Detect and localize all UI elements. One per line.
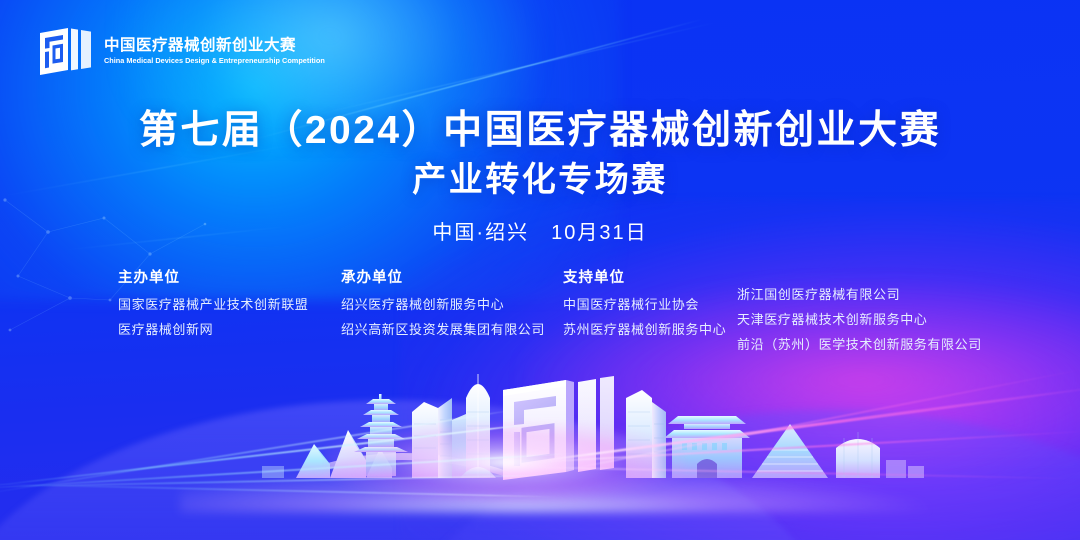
page-title: 第七届（2024）中国医疗器械创新创业大赛 产业转化专场赛 xyxy=(0,108,1080,201)
organizer-item: 国家医疗器械产业技术创新联盟 xyxy=(118,298,308,311)
organizer-column-host: 主办单位 国家医疗器械产业技术创新联盟 医疗器械创新网 xyxy=(118,266,308,348)
organizer-section: 主办单位 国家医疗器械产业技术创新联盟 医疗器械创新网 承办单位 绍兴医疗器械创… xyxy=(0,266,1080,366)
brand-logo[interactable]: 中国医疗器械创新创业大赛 China Medical Devices Desig… xyxy=(38,26,320,76)
organizer-column-supporter: 支持单位 中国医疗器械行业协会 苏州医疗器械创新服务中心 xyxy=(563,266,726,348)
core-light-burst xyxy=(325,422,685,502)
title-line-1: 第七届（2024）中国医疗器械创新创业大赛 xyxy=(0,108,1080,154)
brand-name-en: China Medical Devices Design & Entrepren… xyxy=(104,57,325,64)
organizer-column-coorganizer: 承办单位 绍兴医疗器械创新服务中心 绍兴高新区投资发展集团有限公司 xyxy=(341,266,545,348)
organizer-item: 医疗器械创新网 xyxy=(118,323,308,336)
event-poster: 中国医疗器械创新创业大赛 China Medical Devices Desig… xyxy=(0,0,1080,540)
organizer-heading: 支持单位 xyxy=(563,266,726,287)
organizer-heading: 主办单位 xyxy=(118,266,308,287)
title-line-2: 产业转化专场赛 xyxy=(0,160,1080,201)
organizer-item: 天津医疗器械技术创新服务中心 xyxy=(737,313,982,326)
organizer-column-supporter-2: 浙江国创医疗器械有限公司 天津医疗器械技术创新服务中心 前沿（苏州）医学技术创新… xyxy=(737,288,982,363)
organizer-heading: 承办单位 xyxy=(341,266,545,287)
brand-name-cn: 中国医疗器械创新创业大赛 xyxy=(104,38,320,54)
organizer-item: 绍兴高新区投资发展集团有限公司 xyxy=(341,323,545,336)
organizer-item: 绍兴医疗器械创新服务中心 xyxy=(341,298,545,311)
organizer-item: 前沿（苏州）医学技术创新服务有限公司 xyxy=(737,338,982,351)
event-location-date: 中国·绍兴 10月31日 xyxy=(0,216,1080,245)
open-door-book-logo-icon xyxy=(38,26,94,76)
organizer-item: 浙江国创医疗器械有限公司 xyxy=(737,288,982,301)
organizer-item: 中国医疗器械行业协会 xyxy=(563,298,726,311)
organizer-item: 苏州医疗器械创新服务中心 xyxy=(563,323,726,336)
